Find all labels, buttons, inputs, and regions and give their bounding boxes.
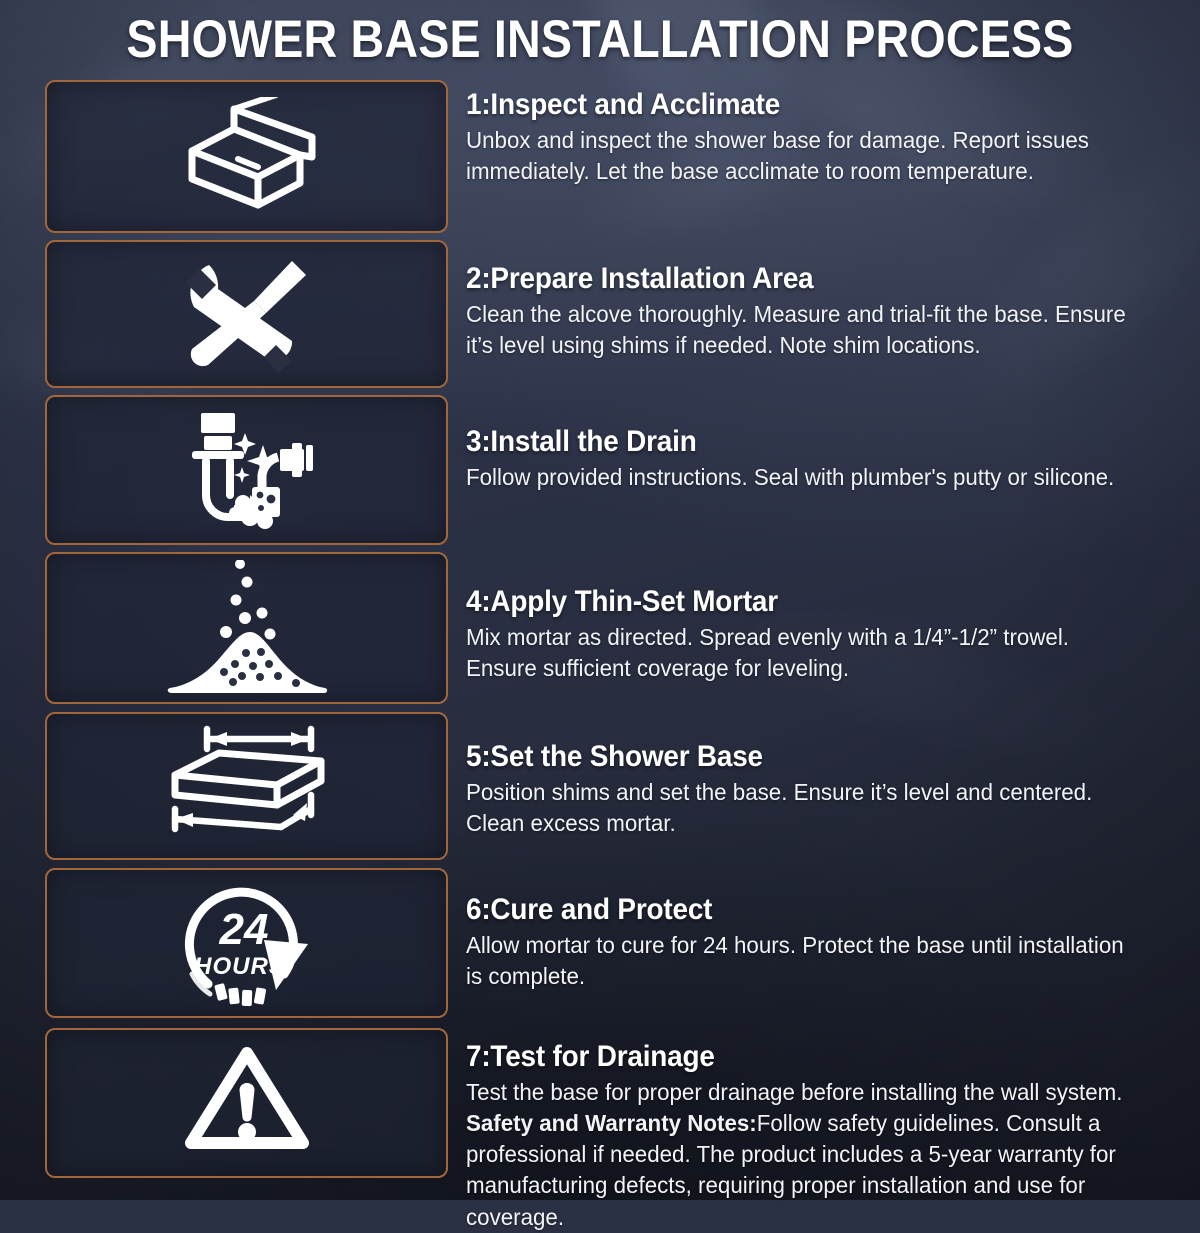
- icon-card-1: [45, 80, 448, 233]
- step-2-text: 2:Prepare Installation Area Clean the al…: [466, 262, 1166, 361]
- hours-label: HOURS: [194, 953, 286, 980]
- step-3-text: 3:Install the Drain Follow provided inst…: [466, 425, 1166, 493]
- step-1-title: 1:Inspect and Acclimate: [466, 88, 1117, 122]
- shower-base-slab-icon: [157, 723, 337, 849]
- step-5-body: Position shims and set the base. Ensure …: [466, 777, 1131, 840]
- step-7-title: 7:Test for Drainage: [466, 1040, 1117, 1074]
- hours-number: 24: [218, 905, 268, 954]
- icon-card-2: [45, 240, 448, 388]
- infographic: SHOWER BASE INSTALLATION PROCESS 1:Inspe…: [0, 0, 1200, 1200]
- step-4-title: 4:Apply Thin-Set Mortar: [466, 585, 1117, 619]
- step-4-body: Mix mortar as directed. Spread evenly wi…: [466, 622, 1131, 685]
- step-7-notes: Safety and Warranty Notes:Follow safety …: [466, 1108, 1131, 1233]
- step-3-body: Follow provided instructions. Seal with …: [466, 462, 1131, 493]
- notes-label: Safety and Warranty Notes:: [466, 1110, 757, 1136]
- step-5-title: 5:Set the Shower Base: [466, 740, 1117, 774]
- warning-triangle-icon: [177, 1041, 317, 1165]
- step-5-text: 5:Set the Shower Base Position shims and…: [466, 740, 1166, 839]
- step-7-text: 7:Test for Drainage Test the base for pr…: [466, 1040, 1166, 1233]
- step-6-title: 6:Cure and Protect: [466, 893, 1117, 927]
- wrench-screwdriver-icon: [172, 255, 322, 373]
- open-box-icon: [172, 97, 322, 217]
- step-2-body: Clean the alcove thoroughly. Measure and…: [466, 299, 1131, 362]
- icon-card-4: [45, 552, 448, 704]
- step-6-body: Allow mortar to cure for 24 hours. Prote…: [466, 930, 1131, 993]
- icon-card-6: 24 HOURS: [45, 868, 448, 1018]
- step-7-body: Test the base for proper drainage before…: [466, 1077, 1131, 1108]
- step-4-text: 4:Apply Thin-Set Mortar Mix mortar as di…: [466, 585, 1166, 684]
- step-2-title: 2:Prepare Installation Area: [466, 262, 1117, 296]
- step-1-body: Unbox and inspect the shower base for da…: [466, 125, 1131, 188]
- step-1-text: 1:Inspect and Acclimate Unbox and inspec…: [466, 88, 1166, 187]
- icon-card-7: [45, 1028, 448, 1178]
- page-title: SHOWER BASE INSTALLATION PROCESS: [72, 12, 1128, 68]
- icon-card-5: [45, 712, 448, 860]
- step-3-title: 3:Install the Drain: [466, 425, 1117, 459]
- mortar-pile-icon: [162, 560, 332, 696]
- step-6-text: 6:Cure and Protect Allow mortar to cure …: [466, 893, 1166, 992]
- 24-hours-clock-icon: 24 HOURS: [172, 878, 322, 1008]
- icon-card-3: [45, 395, 448, 545]
- drain-pipe-icon: [172, 409, 322, 531]
